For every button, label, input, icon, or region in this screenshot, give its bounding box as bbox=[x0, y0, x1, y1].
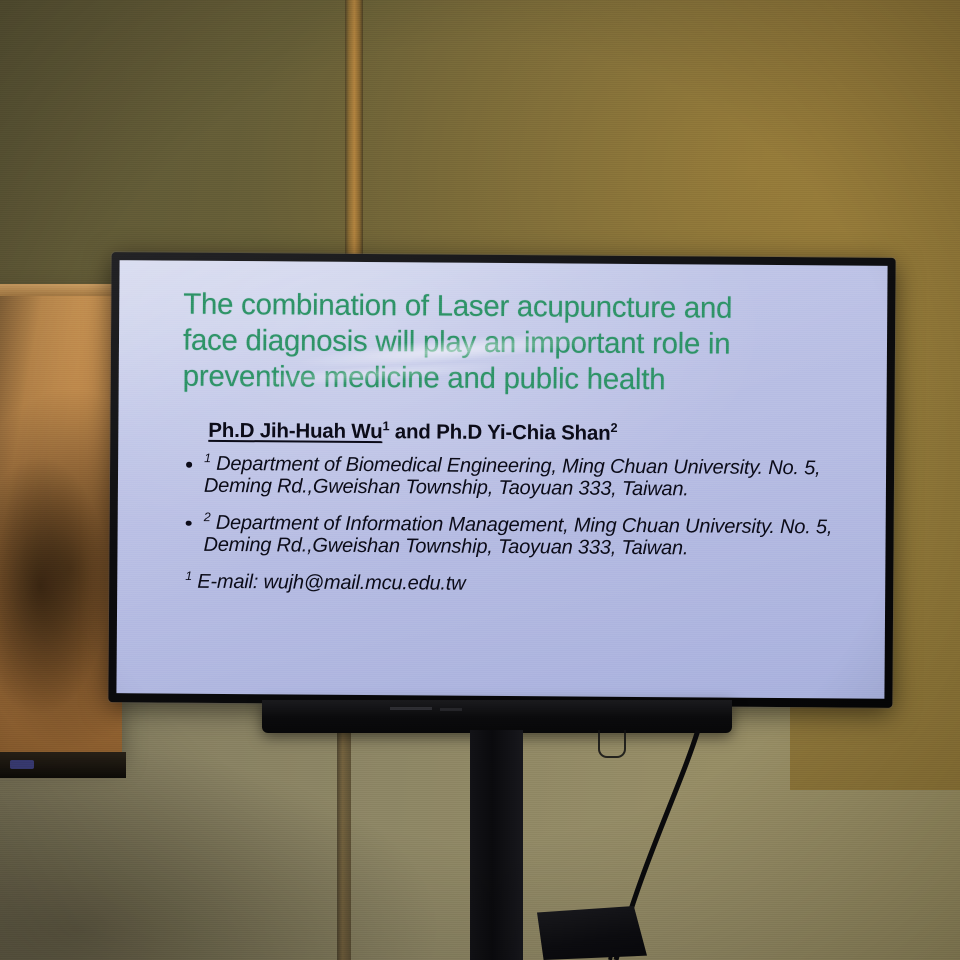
bullet-dot-icon bbox=[186, 521, 192, 527]
marker-pen bbox=[10, 760, 34, 769]
affiliation-text: Department of Information Management, Mi… bbox=[203, 512, 832, 560]
cable-hook bbox=[598, 730, 626, 758]
first-author-name: Ph.D Jih-Huah Wu bbox=[208, 419, 382, 443]
list-item: 2 Department of Information Management, … bbox=[181, 511, 847, 561]
tv-stand-bar bbox=[262, 700, 732, 733]
affiliation-marker: 2 bbox=[204, 510, 211, 524]
stand-vent bbox=[390, 707, 432, 710]
author-conjunction: and bbox=[389, 420, 436, 443]
affiliation-marker: 1 bbox=[204, 451, 211, 465]
slide-title-line-3: preventive medicine and public health bbox=[183, 359, 849, 400]
room-scene: The combination of Laser acupuncture and… bbox=[0, 0, 960, 960]
bullet-dot-icon bbox=[186, 462, 192, 468]
tv-screen[interactable]: The combination of Laser acupuncture and… bbox=[116, 260, 887, 699]
stand-vent-secondary bbox=[440, 708, 462, 711]
slide-title-line-1: The combination of Laser acupuncture and bbox=[183, 287, 849, 328]
affiliation-text: Department of Biomedical Engineering, Mi… bbox=[204, 453, 821, 501]
affiliation-list: 1 Department of Biomedical Engineering, … bbox=[181, 453, 848, 561]
contact-email-line: 1 E-mail: wujh@mail.mcu.edu.tw bbox=[185, 570, 847, 598]
author-line: Ph.D Jih-Huah Wu1 and Ph.D Yi-Chia Shan2 bbox=[208, 419, 848, 448]
list-item: 1 Department of Biomedical Engineering, … bbox=[182, 453, 848, 503]
wall-wood-trim-lower bbox=[337, 700, 351, 960]
tv-stand-post bbox=[470, 730, 523, 960]
email-address[interactable]: wujh@mail.mcu.edu.tw bbox=[263, 571, 465, 594]
board-shadow bbox=[0, 430, 106, 730]
television: The combination of Laser acupuncture and… bbox=[108, 252, 895, 708]
slide-title: The combination of Laser acupuncture and… bbox=[183, 287, 850, 400]
second-author-name: Ph.D Yi-Chia Shan bbox=[436, 420, 610, 444]
presentation-slide: The combination of Laser acupuncture and… bbox=[116, 260, 887, 699]
contact-marker: 1 bbox=[185, 569, 192, 583]
second-author-affiliation-marker: 2 bbox=[610, 420, 617, 435]
email-label: E-mail: bbox=[197, 570, 258, 592]
slide-title-line-2: face diagnosis will play an important ro… bbox=[183, 323, 849, 364]
tv-stand-base bbox=[537, 906, 647, 960]
wall-lower-right bbox=[790, 700, 960, 790]
